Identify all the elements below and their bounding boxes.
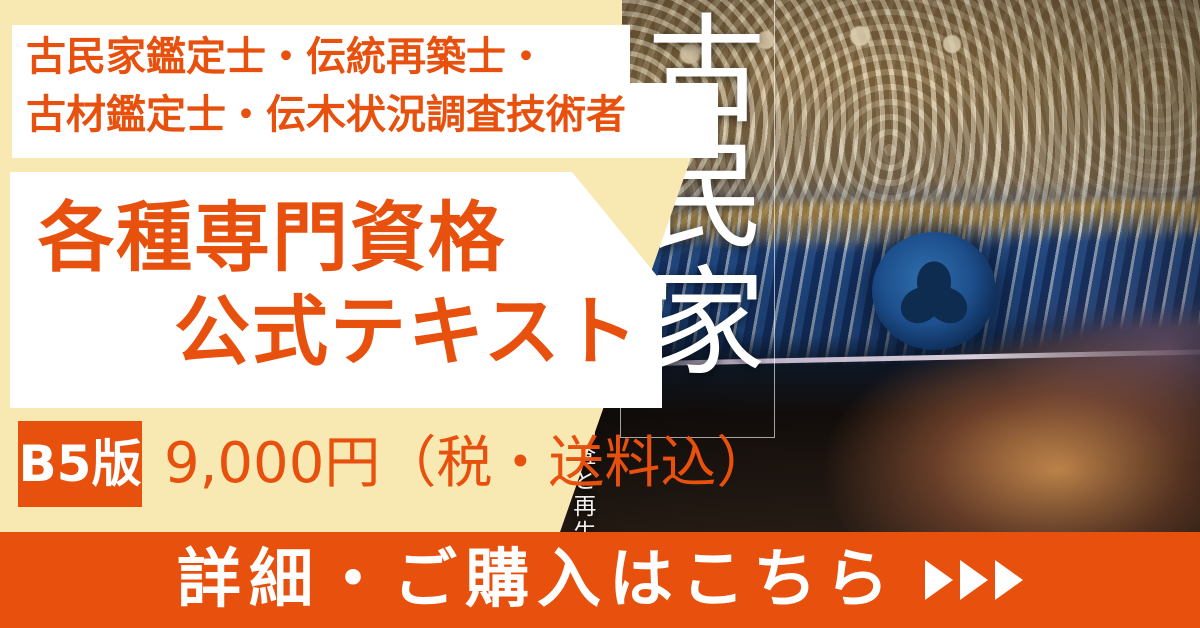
price-row: B5版 9,000円（税・送料込） xyxy=(18,421,772,507)
cta-arrows xyxy=(925,560,1023,600)
cta-label: 詳細・ご購入はこちら xyxy=(177,548,897,612)
qualifications-text: 古民家鑑定士・伝統再築士・ 古材鑑定士・伝木状況調査技術者 xyxy=(26,29,626,144)
qualifications-panel: 古民家鑑定士・伝統再築士・ 古材鑑定士・伝木状況調査技術者 xyxy=(12,25,718,158)
format-badge: B5版 xyxy=(18,421,142,507)
play-arrow-icon xyxy=(995,560,1023,600)
promo-banner: 古民家 伝統構法、古民家活用のための調査と再生の 古民家鑑定士・伝統再築士・ 古… xyxy=(0,0,1200,628)
play-arrow-icon xyxy=(960,560,988,600)
headline-panel: 各種専門資格 公式テキスト xyxy=(10,172,672,408)
play-arrow-icon xyxy=(925,560,953,600)
price-amount: 9,000円（税・送料込） xyxy=(164,436,772,492)
cta-bar[interactable]: 詳細・ご購入はこちら xyxy=(0,532,1200,628)
headline-line-2: 公式テキスト xyxy=(174,294,640,370)
headline-line-1: 各種専門資格 xyxy=(38,200,506,276)
